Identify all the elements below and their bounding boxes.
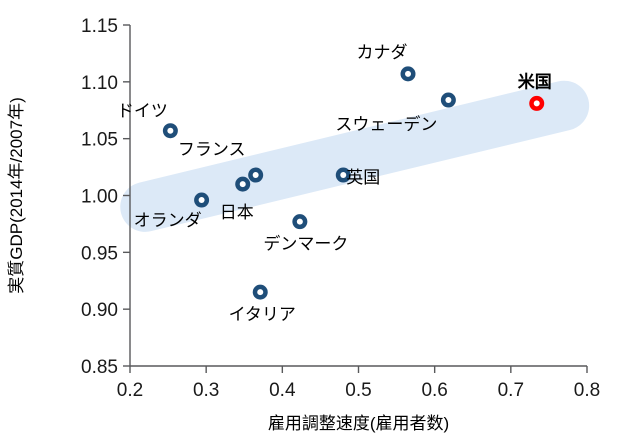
data-point-3 xyxy=(248,168,263,183)
y-tick-label: 1.15 xyxy=(81,16,118,37)
data-point-8 xyxy=(441,93,456,108)
scatter-chart: 0.850.900.951.001.051.101.150.20.30.40.5… xyxy=(0,0,620,440)
data-point-1 xyxy=(194,193,209,208)
marker-inner xyxy=(445,97,451,103)
x-tick-label: 0.4 xyxy=(269,380,296,401)
marker-inner xyxy=(253,172,259,178)
point-label-9: 米国 xyxy=(518,71,552,91)
x-tick-label: 0.8 xyxy=(574,380,600,401)
data-point-2 xyxy=(235,177,250,192)
marker-inner xyxy=(199,197,205,203)
x-tick-label: 0.7 xyxy=(498,380,524,401)
marker-inner xyxy=(257,289,263,295)
point-label-1: オランダ xyxy=(134,211,202,230)
data-point-7 xyxy=(401,66,416,81)
point-label-6: 英国 xyxy=(346,168,380,187)
data-point-4 xyxy=(253,285,268,300)
marker-inner xyxy=(297,219,303,225)
data-point-9 xyxy=(529,96,544,111)
x-tick-label: 0.2 xyxy=(117,380,143,401)
point-label-8: スウェーデン xyxy=(335,114,437,134)
point-label-5: デンマーク xyxy=(263,234,348,254)
y-axis-title: 実質GDP(2014年/2007年) xyxy=(7,97,26,294)
y-tick-label: 0.90 xyxy=(81,300,118,321)
x-tick-label: 0.3 xyxy=(193,380,219,401)
y-tick-label: 0.85 xyxy=(81,357,118,378)
y-tick-label: 1.00 xyxy=(81,187,118,208)
data-point-0 xyxy=(163,123,178,138)
point-label-3: フランス xyxy=(178,140,246,159)
point-label-7: カナダ xyxy=(357,43,408,62)
marker-inner xyxy=(240,181,246,187)
point-label-2: 日本 xyxy=(220,203,254,222)
marker-inner xyxy=(534,100,540,106)
data-point-5 xyxy=(292,214,307,229)
y-tick-label: 1.10 xyxy=(81,73,118,94)
marker-inner xyxy=(167,128,173,134)
x-tick-label: 0.6 xyxy=(421,380,447,401)
marker-inner xyxy=(405,71,411,77)
x-axis-title: 雇用調整速度(雇用者数) xyxy=(268,414,449,433)
y-tick-label: 1.05 xyxy=(81,130,118,151)
point-label-4: イタリア xyxy=(229,305,296,324)
x-tick-label: 0.5 xyxy=(345,380,371,401)
y-tick-label: 0.95 xyxy=(81,243,118,264)
point-label-0: ドイツ xyxy=(117,102,168,121)
chart-canvas: 0.850.900.951.001.051.101.150.20.30.40.5… xyxy=(0,0,620,440)
